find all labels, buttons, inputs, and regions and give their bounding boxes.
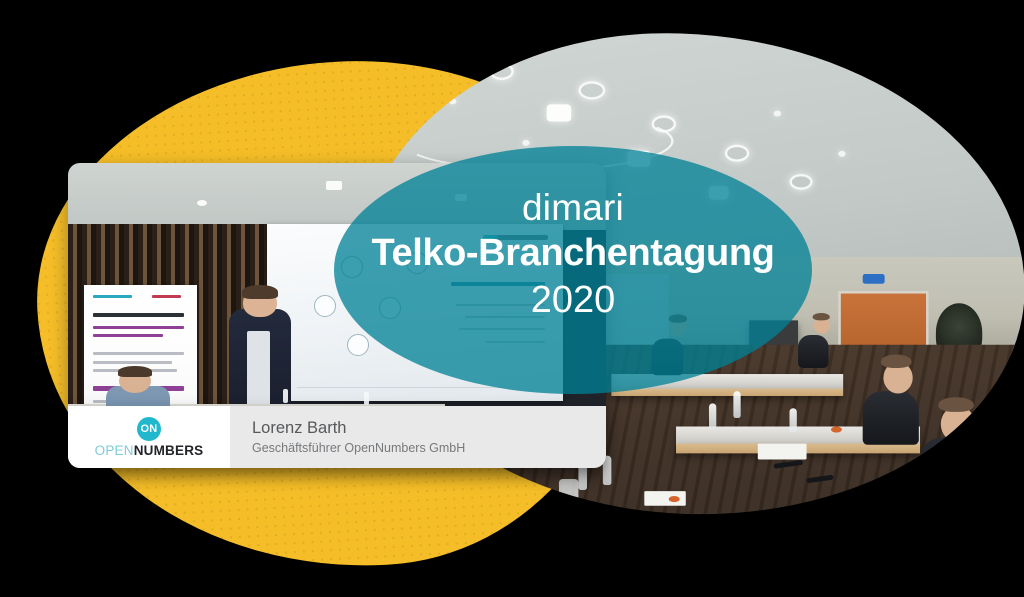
poster-logo-bar bbox=[93, 295, 131, 298]
seated-attendee-hair bbox=[118, 366, 152, 377]
delegate-figure bbox=[920, 438, 986, 501]
exit-sign-icon bbox=[863, 274, 885, 284]
delegate-figure bbox=[798, 335, 829, 368]
wordmark-open: OPEN bbox=[95, 443, 134, 458]
water-bottle bbox=[364, 392, 369, 405]
ceiling-spot-icon bbox=[449, 98, 456, 104]
speaker-card: ON OPENNUMBERS Lorenz Barth Geschäftsfüh… bbox=[68, 406, 606, 468]
water-bottle bbox=[733, 391, 740, 418]
poster-text-bar bbox=[93, 352, 183, 355]
poster-text-bar bbox=[93, 361, 172, 364]
conference-table-edge bbox=[611, 389, 843, 396]
water-bottle bbox=[709, 403, 716, 429]
poster-subhead-bar bbox=[93, 334, 163, 337]
poster-headline-bar bbox=[93, 313, 183, 317]
water-bottle bbox=[283, 389, 288, 403]
slide-diagram-node bbox=[347, 334, 369, 356]
wordmark-numbers: NUMBERS bbox=[134, 443, 204, 458]
water-bottle bbox=[790, 409, 797, 433]
delegate-hair bbox=[938, 397, 973, 412]
speaker-name: Lorenz Barth bbox=[252, 418, 606, 439]
delegate-hair bbox=[813, 313, 830, 320]
opennumbers-wordmark: OPENNUMBERS bbox=[95, 443, 204, 458]
composition-stage: dimari Telko-Branchentagung 2020 ON OPEN… bbox=[0, 0, 1024, 597]
ice-bucket bbox=[559, 479, 579, 503]
water-bottle bbox=[192, 389, 197, 403]
opennumbers-logo: ON OPENNUMBERS bbox=[68, 406, 230, 468]
slide-footer-line bbox=[297, 387, 504, 389]
ceiling-spot-icon bbox=[579, 81, 606, 99]
on-mark-icon: ON bbox=[137, 417, 161, 441]
slide-diagram-node bbox=[314, 295, 336, 317]
ceiling-light-icon bbox=[197, 200, 207, 206]
delegate-figure bbox=[863, 391, 919, 445]
delegate-hair bbox=[881, 355, 912, 368]
poster-subhead-bar bbox=[93, 326, 183, 329]
snack-item bbox=[830, 426, 841, 432]
speaker-info: Lorenz Barth Geschäftsführer OpenNumbers… bbox=[230, 406, 606, 468]
teal-overlay-ellipse bbox=[334, 146, 812, 394]
poster-accent-bar bbox=[152, 295, 181, 298]
ceiling-light-icon bbox=[326, 181, 342, 190]
speaker-hair bbox=[242, 285, 278, 299]
notepad bbox=[757, 444, 806, 460]
speaker-shirt bbox=[247, 331, 271, 410]
ceiling-spot-icon bbox=[774, 110, 781, 116]
speaker-role: Geschäftsführer OpenNumbers GmbH bbox=[252, 439, 606, 457]
ceiling-light-icon bbox=[417, 46, 449, 68]
